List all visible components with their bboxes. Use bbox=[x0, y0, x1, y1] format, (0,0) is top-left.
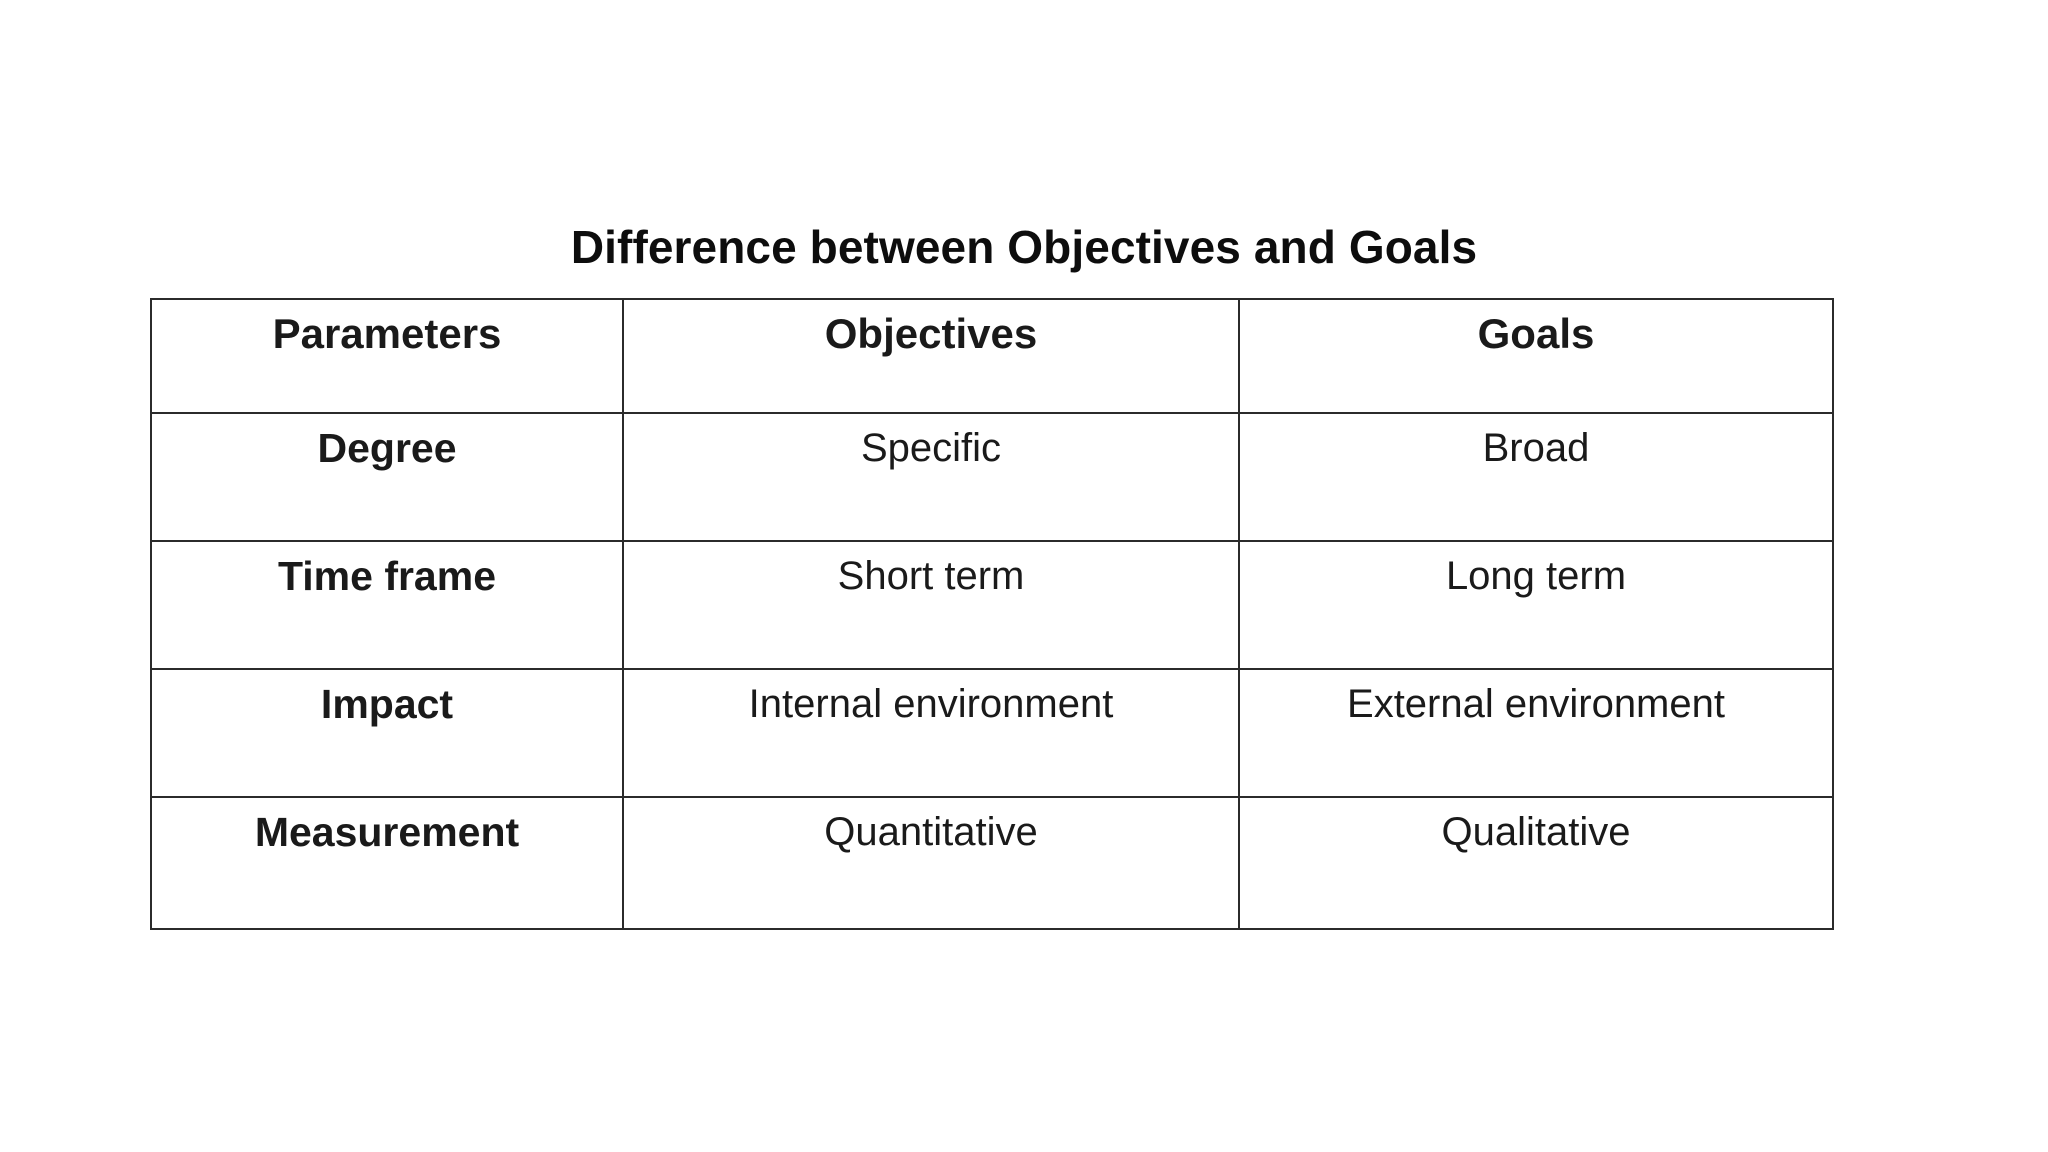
cell-parameter-impact: Impact bbox=[151, 669, 623, 797]
cell-goal-impact: External environment bbox=[1239, 669, 1833, 797]
comparison-table: Parameters Objectives Goals Degree Speci… bbox=[150, 298, 1834, 930]
cell-goal-degree: Broad bbox=[1239, 413, 1833, 541]
cell-parameter-degree: Degree bbox=[151, 413, 623, 541]
table-body: Degree Specific Broad Time frame Short t… bbox=[151, 413, 1833, 929]
cell-objective-measurement: Quantitative bbox=[623, 797, 1239, 929]
table-header: Parameters Objectives Goals bbox=[151, 299, 1833, 413]
table-row: Time frame Short term Long term bbox=[151, 541, 1833, 669]
cell-objective-degree: Specific bbox=[623, 413, 1239, 541]
table-header-row: Parameters Objectives Goals bbox=[151, 299, 1833, 413]
cell-parameter-time-frame: Time frame bbox=[151, 541, 623, 669]
cell-parameter-measurement: Measurement bbox=[151, 797, 623, 929]
table-row: Impact Internal environment External env… bbox=[151, 669, 1833, 797]
cell-goal-measurement: Qualitative bbox=[1239, 797, 1833, 929]
cell-objective-impact: Internal environment bbox=[623, 669, 1239, 797]
column-header-objectives: Objectives bbox=[623, 299, 1239, 413]
table-row: Measurement Quantitative Qualitative bbox=[151, 797, 1833, 929]
column-header-goals: Goals bbox=[1239, 299, 1833, 413]
cell-goal-time-frame: Long term bbox=[1239, 541, 1833, 669]
slide-canvas: Difference between Objectives and Goals … bbox=[0, 0, 2048, 1152]
cell-objective-time-frame: Short term bbox=[623, 541, 1239, 669]
page-title: Difference between Objectives and Goals bbox=[0, 218, 2048, 276]
table-row: Degree Specific Broad bbox=[151, 413, 1833, 541]
column-header-parameters: Parameters bbox=[151, 299, 623, 413]
